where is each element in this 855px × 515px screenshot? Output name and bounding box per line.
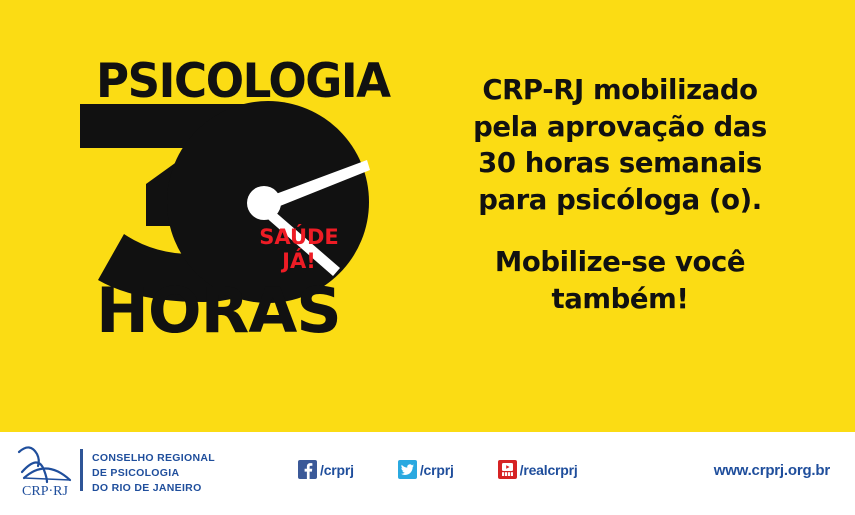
logo-slogan: SAÚDE JÁ! — [244, 226, 354, 273]
logo-word-horas: HORAS — [96, 280, 341, 342]
youtube-handle[interactable]: /realcrprj — [520, 462, 578, 478]
crp-rj-bird-book-icon: CRP·RJ — [14, 442, 76, 500]
logo-word-psicologia: PSICOLOGIA — [96, 58, 390, 105]
headline-line-5: Mobilize-se você — [420, 244, 820, 281]
social-link-facebook[interactable]: /crprj — [298, 460, 354, 479]
facebook-handle[interactable]: /crprj — [320, 462, 354, 478]
facebook-icon[interactable] — [298, 460, 317, 479]
council-name-line-2: DE PSICOLOGIA — [92, 466, 215, 481]
logo-slogan-line-1: SAÚDE — [244, 226, 354, 250]
headline-text: CRP-RJ mobilizado pela aprovação das 30 … — [420, 72, 820, 317]
headline-line-2: pela aprovação das — [420, 109, 820, 146]
logo-slogan-line-2: JÁ! — [244, 250, 354, 274]
youtube-icon[interactable] — [498, 460, 517, 479]
headline-line-3: 30 horas semanais — [420, 145, 820, 182]
campaign-banner: PSICOLOGIA SAÚDE — [0, 0, 855, 515]
council-name: CONSELHO REGIONAL DE PSICOLOGIA DO RIO D… — [92, 451, 215, 496]
website-url[interactable]: www.crprj.org.br — [714, 462, 830, 479]
headline-line-4: para psicóloga (o). — [420, 182, 820, 219]
hero-section: PSICOLOGIA SAÚDE — [0, 0, 855, 432]
headline-paragraph-1: CRP-RJ mobilizado pela aprovação das 30 … — [420, 72, 820, 218]
footer-divider — [80, 449, 83, 491]
headline-line-6: também! — [420, 281, 820, 318]
svg-text:CRP·RJ: CRP·RJ — [22, 484, 68, 499]
twitter-icon[interactable] — [398, 460, 417, 479]
council-name-line-1: CONSELHO REGIONAL — [92, 451, 215, 466]
footer-bar: CRP·RJ CONSELHO REGIONAL DE PSICOLOGIA D… — [0, 432, 855, 515]
headline-paragraph-2: Mobilize-se você também! — [420, 244, 820, 317]
council-name-line-3: DO RIO DE JANEIRO — [92, 481, 215, 496]
twitter-handle[interactable]: /crprj — [420, 462, 454, 478]
campaign-logo: PSICOLOGIA SAÚDE — [72, 58, 372, 358]
social-link-youtube[interactable]: /realcrprj — [498, 460, 578, 479]
social-links: /crprj /crprj — [298, 460, 578, 479]
headline-line-1: CRP-RJ mobilizado — [420, 72, 820, 109]
social-link-twitter[interactable]: /crprj — [398, 460, 454, 479]
